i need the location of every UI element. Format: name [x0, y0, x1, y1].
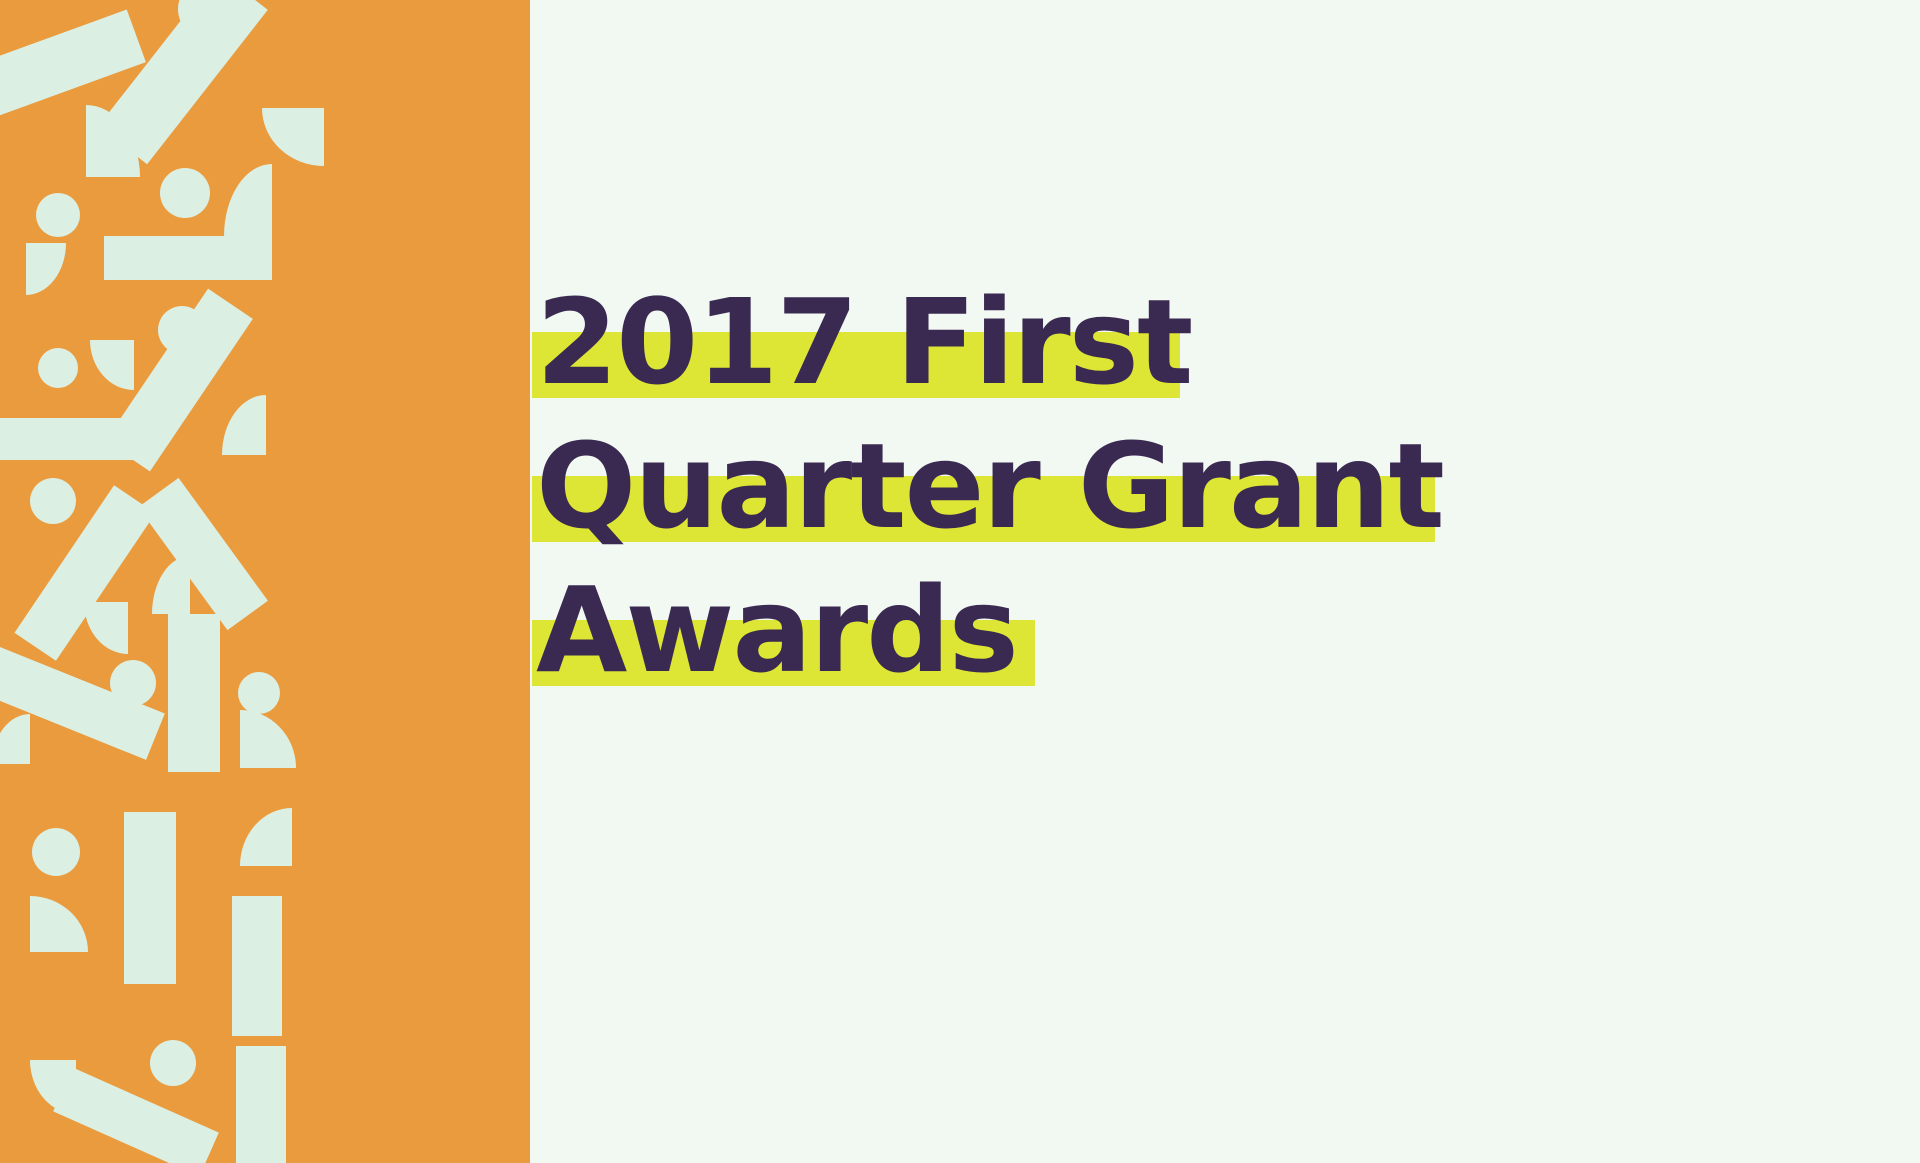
pattern-shape-quarter-tr-icon: [240, 710, 296, 768]
slide-content-area: 2017 First Quarter Grant Awards: [530, 0, 1920, 1163]
pattern-shape-quarter-bl-icon: [90, 340, 134, 390]
pattern-shape-circle-icon: [150, 1040, 196, 1086]
pattern-shape-circle-icon: [36, 193, 80, 237]
title-line-3-text: Awards: [530, 558, 1017, 702]
pattern-shape-quarter-bl-icon: [84, 602, 128, 654]
title-line-1-text: 2017 First: [530, 270, 1191, 414]
pattern-shape-quarter-tl-icon: [224, 164, 272, 236]
title-line-2: Quarter Grant: [530, 414, 1920, 558]
pattern-shape-quarter-br-icon: [26, 243, 66, 295]
pattern-shape-circle-icon: [238, 672, 280, 714]
pattern-shape-quarter-bl-icon: [262, 108, 324, 166]
page-title: 2017 First Quarter Grant Awards: [530, 270, 1920, 702]
title-line-3: Awards: [530, 558, 1920, 702]
title-line-2-text: Quarter Grant: [530, 414, 1443, 558]
pattern-shape-bar-icon: [53, 1068, 219, 1163]
pattern-shape-bar-icon: [236, 1046, 286, 1163]
pattern-shape-bar-icon: [0, 418, 146, 460]
pattern-shape-quarter-tl-icon: [222, 395, 266, 455]
pattern-shape-bar-icon: [232, 896, 282, 1036]
pattern-shape-circle-icon: [38, 348, 78, 388]
pattern-shape-circle-icon: [158, 306, 206, 354]
pattern-shape-circle-icon: [32, 828, 80, 876]
pattern-shape-bar-icon: [124, 812, 176, 984]
pattern-shape-quarter-tl-icon: [0, 714, 30, 764]
title-line-1: 2017 First: [530, 270, 1920, 414]
pattern-shape-bar-icon: [168, 614, 220, 772]
decorative-sidebar-panel: [0, 0, 530, 1163]
pattern-shape-circle-icon: [30, 478, 76, 524]
pattern-shape-quarter-tl-icon: [152, 556, 190, 614]
pattern-shape-circle-icon: [160, 168, 210, 218]
pattern-shape-quarter-tr-icon: [30, 896, 88, 952]
pattern-shape-bar-icon: [104, 236, 272, 280]
slide-canvas: 2017 First Quarter Grant Awards: [0, 0, 1920, 1163]
pattern-shape-quarter-tl-icon: [240, 808, 292, 866]
